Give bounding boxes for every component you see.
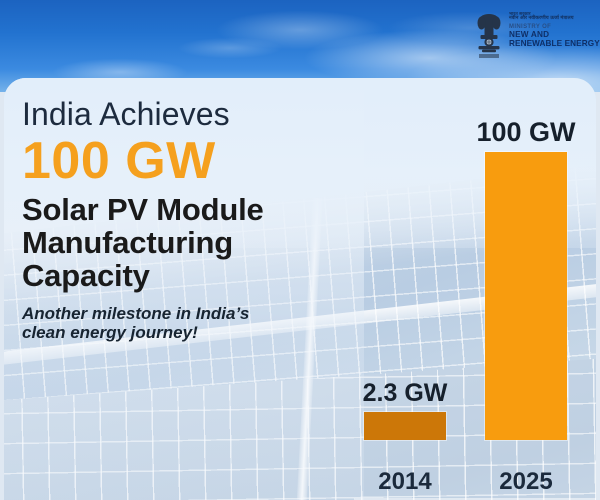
bar-2014-value-label: 2.3 GW: [349, 379, 461, 408]
headline-subject-line-1: Solar PV Module: [22, 193, 362, 226]
headline-subject-line-3: Capacity: [22, 259, 362, 292]
headline-capacity-value: 100 GW: [22, 135, 362, 187]
bar-2025-fill: [485, 152, 567, 440]
ministry-logo-text: भारत सरकार नवीन और नवीकरणीय ऊर्जा मंत्रा…: [509, 10, 600, 48]
bar-chart: 2.3 GW 2014 100 GW 2025: [354, 78, 596, 500]
ashoka-lion-capital-emblem: [474, 10, 504, 62]
bar-2025-year-label: 2025: [483, 468, 569, 496]
tagline-line-2: clean energy journey!: [22, 323, 362, 342]
bar-2014: [364, 412, 446, 440]
headline-subject-line-2: Manufacturing: [22, 226, 362, 259]
headline-kicker: India Achieves: [22, 98, 362, 131]
ministry-renewable-energy-label: RENEWABLE ENERGY: [509, 40, 600, 48]
tagline: Another milestone in India’s clean energ…: [22, 304, 362, 343]
bar-2014-year-label: 2014: [362, 468, 448, 496]
main-content-card: India Achieves 100 GW Solar PV Module Ma…: [4, 78, 596, 500]
ministry-hindi-line-2: नवीन और नवीकरणीय ऊर्जा मंत्रालय: [509, 17, 600, 22]
tagline-line-1: Another milestone in India’s: [22, 304, 362, 323]
bar-2025-value-label: 100 GW: [470, 117, 582, 148]
headline-column: India Achieves 100 GW Solar PV Module Ma…: [22, 98, 362, 343]
infographic-root: भारत सरकार नवीन और नवीकरणीय ऊर्जा मंत्रा…: [0, 0, 600, 500]
bar-2014-fill: [364, 412, 446, 440]
ministry-logo: भारत सरकार नवीन और नवीकरणीय ऊर्जा मंत्रा…: [474, 10, 596, 66]
bar-2025: [485, 152, 567, 440]
headline-subject: Solar PV Module Manufacturing Capacity: [22, 193, 362, 292]
